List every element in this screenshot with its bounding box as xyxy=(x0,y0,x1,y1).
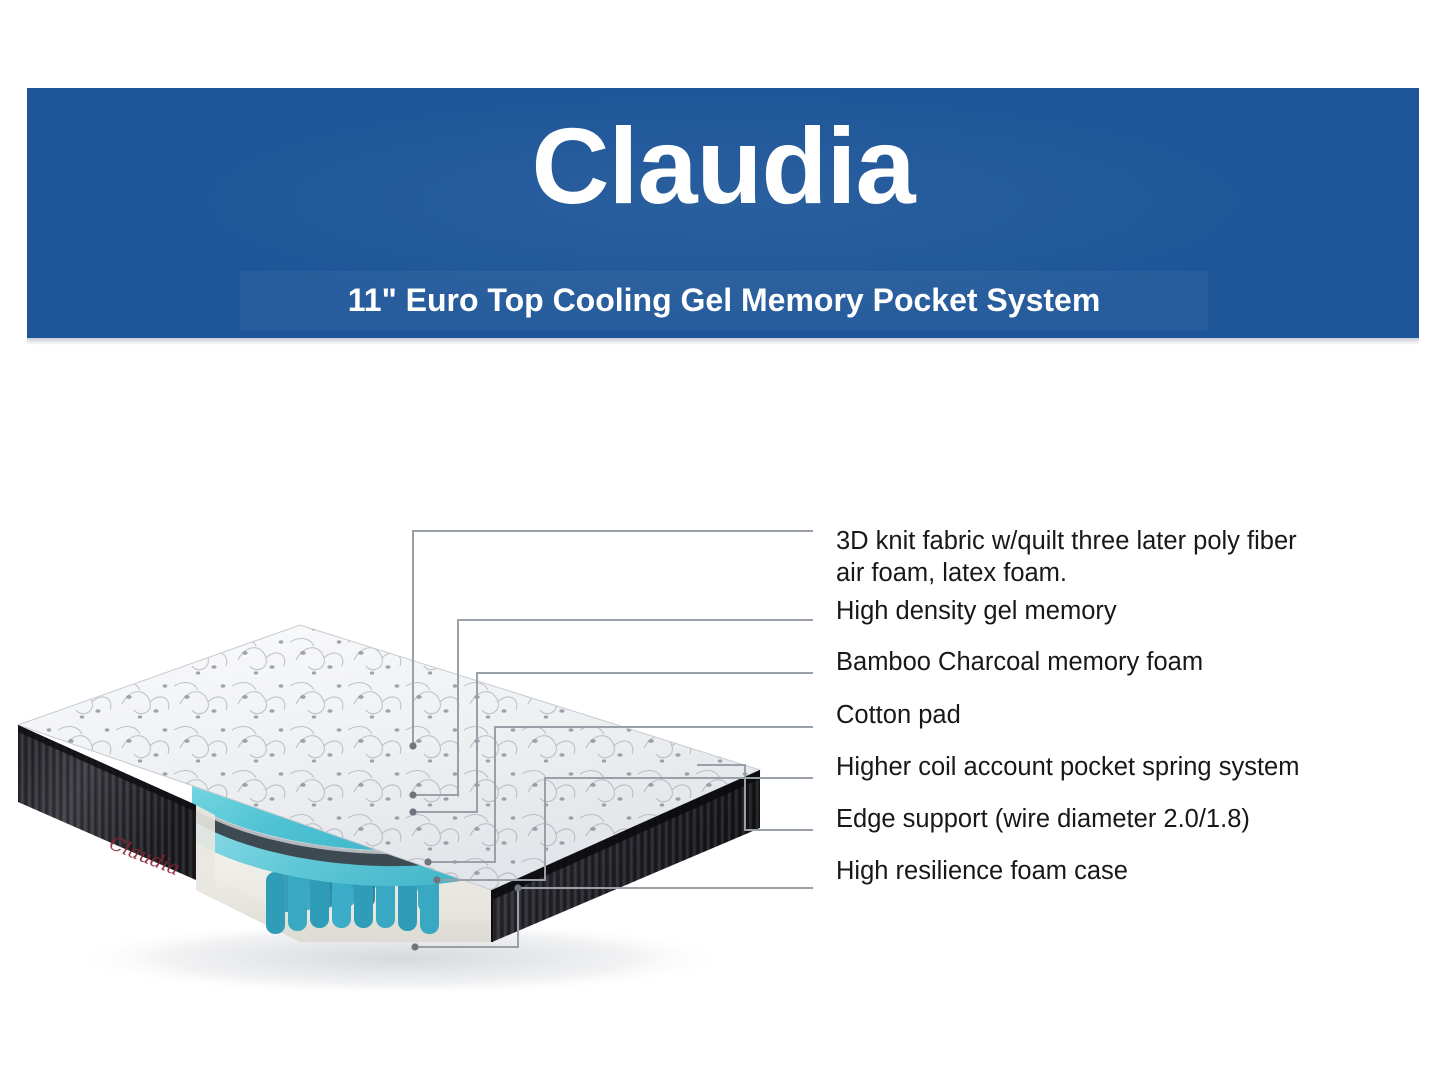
callout-higher-coil-account-pocket-spring-system: Higher coil account pocket spring system xyxy=(836,751,1299,783)
callout-3d-knit-fabric: 3D knit fabric w/quilt three later poly … xyxy=(836,525,1297,589)
product-spec-page: Claudia 11" Euro Top Cooling Gel Memory … xyxy=(0,0,1445,1084)
header-banner: Claudia 11" Euro Top Cooling Gel Memory … xyxy=(27,88,1419,338)
case-cut-face xyxy=(196,805,215,900)
callout-bamboo-charcoal-memory-foam: Bamboo Charcoal memory foam xyxy=(836,646,1203,678)
callout-cotton-pad: Cotton pad xyxy=(836,699,961,731)
callout-high-resilience-foam-case: High resilience foam case xyxy=(836,855,1128,887)
callout-high-density-gel-memory: High density gel memory xyxy=(836,595,1117,627)
page-subtitle: 11" Euro Top Cooling Gel Memory Pocket S… xyxy=(240,271,1208,331)
subtitle-plate: 11" Euro Top Cooling Gel Memory Pocket S… xyxy=(240,271,1208,331)
page-title: Claudia xyxy=(27,112,1419,220)
callout-edge-support: Edge support (wire diameter 2.0/1.8) xyxy=(836,803,1250,835)
mattress-cutaway-illustration: Claudia xyxy=(0,590,800,1010)
banner-drop-shadow xyxy=(27,338,1419,345)
